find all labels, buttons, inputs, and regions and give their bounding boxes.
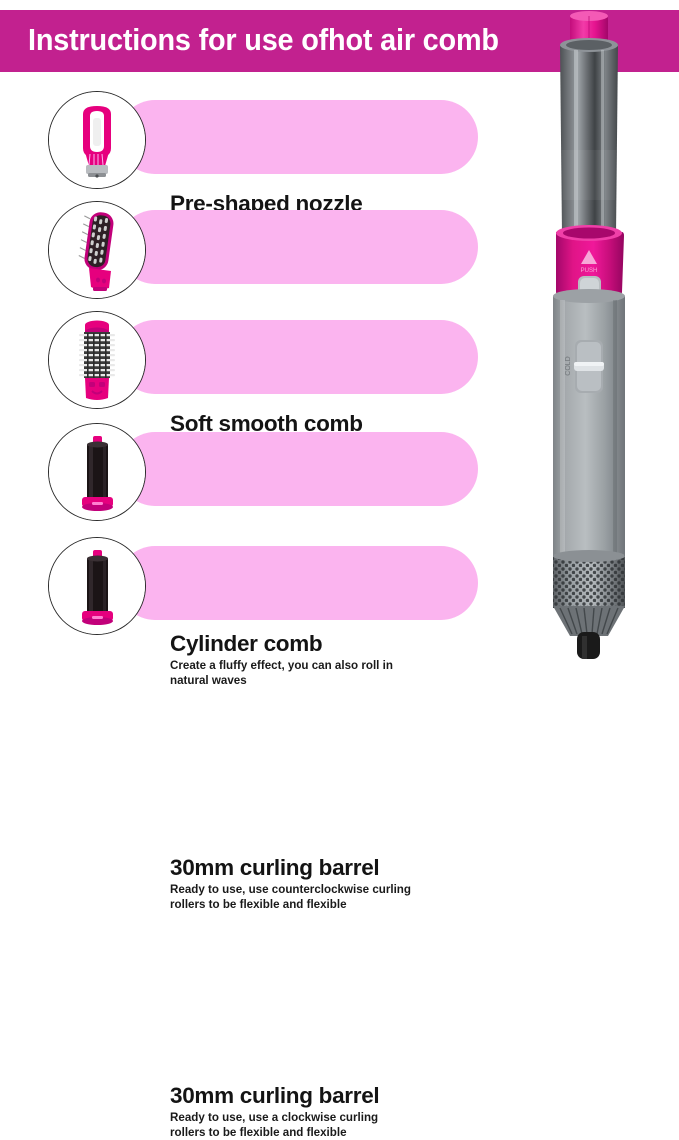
curling-barrel-clockwise-icon [48, 537, 146, 635]
feature-desc-line: rollers to be flexible and flexible [170, 1126, 470, 1140]
soft-smooth-comb-icon [48, 201, 146, 299]
feature-row-3[interactable]: Cylinder comb Create a fluffy effect, yo… [0, 308, 500, 416]
feature-text-5: 30mm curling barrel Ready to use, use a … [170, 1082, 470, 1140]
feature-desc-line: rollers to be flexible and flexible [170, 898, 470, 913]
feature-title-4: 30mm curling barrel [170, 854, 470, 881]
infographic-page: Instructions for use ofhot air comb Pre-… [0, 0, 679, 659]
feature-desc-3: Create a fluffy effect, you can also rol… [170, 659, 470, 688]
feature-pill-4 [118, 432, 478, 506]
curling-barrel-counterclockwise-icon [48, 423, 146, 521]
feature-desc-line: Ready to use, use counterclockwise curli… [170, 883, 470, 898]
feature-pill-1 [118, 100, 478, 174]
feature-row-5[interactable]: 30mm curling barrel Ready to use, use a … [0, 534, 500, 642]
handle-body [553, 289, 625, 560]
feature-text-4: 30mm curling barrel Ready to use, use co… [170, 854, 470, 912]
air-inlet-filter-mesh [553, 550, 625, 636]
feature-desc-line: Ready to use, use a clockwise curling [170, 1111, 470, 1126]
pre-shaped-nozzle-icon [48, 91, 146, 189]
curling-barrel [560, 38, 618, 235]
product-image: PUSH COLD [498, 0, 679, 659]
feature-desc-5: Ready to use, use a clockwise curling ro… [170, 1111, 470, 1140]
power-cord [577, 632, 600, 659]
svg-text:PUSH: PUSH [581, 268, 598, 274]
feature-pill-2 [118, 210, 478, 284]
feature-row-2[interactable]: Soft smooth comb Create a smooth effect,… [0, 198, 500, 306]
svg-text:COLD: COLD [565, 356, 572, 375]
feature-row-4[interactable]: 30mm curling barrel Ready to use, use co… [0, 420, 500, 528]
feature-row-1[interactable]: Pre-shaped nozzle Dry hair quickly and p… [0, 88, 500, 196]
cylinder-comb-icon [48, 311, 146, 409]
feature-title-5: 30mm curling barrel [170, 1082, 470, 1109]
feature-desc-4: Ready to use, use counterclockwise curli… [170, 883, 470, 912]
feature-desc-line: natural waves [170, 674, 470, 689]
page-title: Instructions for use ofhot air comb [28, 22, 499, 58]
feature-desc-line: Create a fluffy effect, you can also rol… [170, 659, 470, 674]
feature-pill-3 [118, 320, 478, 394]
feature-pill-5 [118, 546, 478, 620]
